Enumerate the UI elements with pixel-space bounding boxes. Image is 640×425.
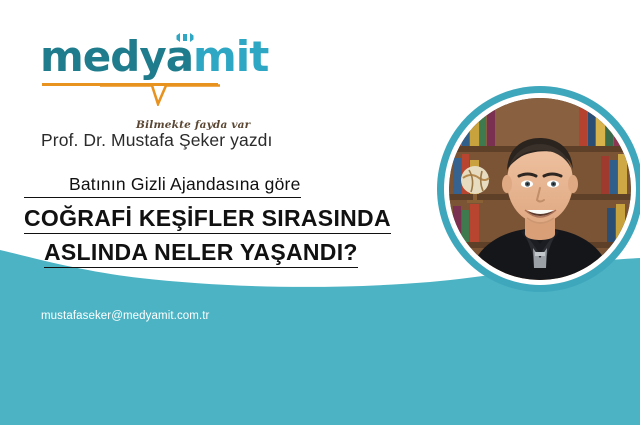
headline-line-2: COĞRAFİ KEŞİFLER SIRASINDA (24, 207, 391, 234)
logo-wordmark: medyamit (40, 34, 268, 80)
contact-email[interactable]: mustafaseker@medyamit.com.tr (41, 310, 210, 322)
site-logo[interactable]: medyamit Bilmekte fayda var (40, 34, 230, 104)
author-portrait (437, 86, 640, 292)
article-banner: medyamit Bilmekte fayda var Prof. Dr. Mu… (0, 0, 640, 425)
logo-word-medya: medya (40, 32, 193, 81)
headline-line-1: Batının Gizli Ajandasına göre (24, 176, 301, 198)
article-headline: Batının Gizli Ajandasına göre COĞRAFİ KE… (24, 176, 444, 268)
portrait-image (449, 98, 631, 280)
logo-speech-tail (100, 84, 220, 106)
headline-line-3: ASLINDA NELER YAŞANDI? (44, 241, 358, 268)
logo-word-mit: mit (193, 32, 268, 81)
portrait-photo (449, 98, 631, 280)
broadcast-signal-icon (176, 32, 194, 43)
article-byline: Prof. Dr. Mustafa Şeker yazdı (41, 130, 272, 151)
